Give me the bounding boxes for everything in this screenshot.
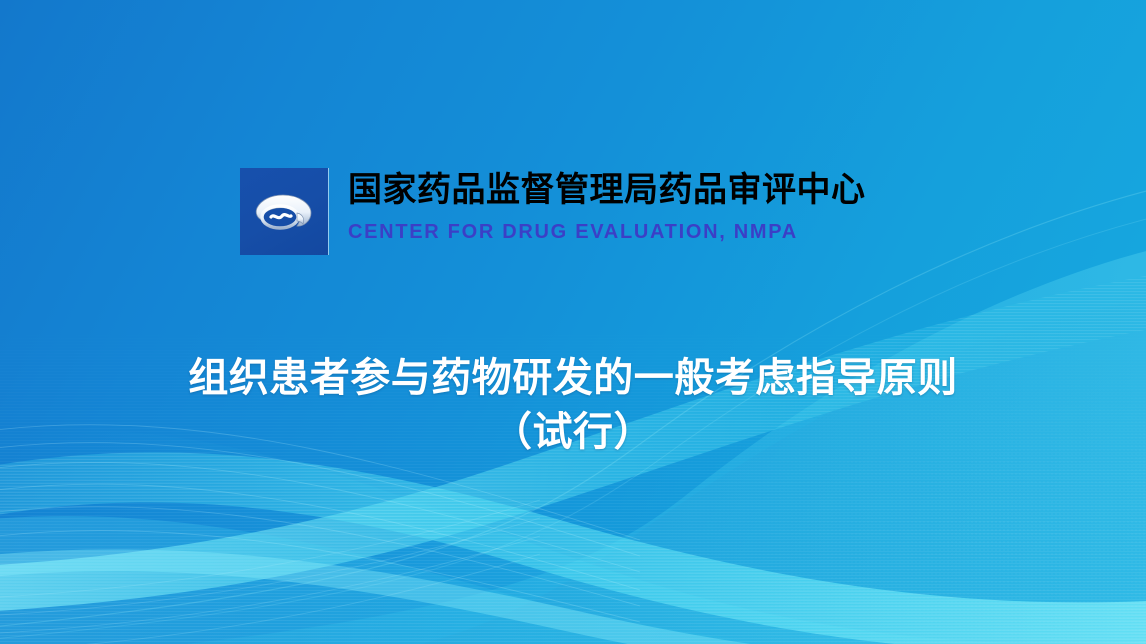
document-title-line-2: （试行） [40, 406, 1106, 460]
organization-name-cn: 国家药品监督管理局药品审评中心 [348, 170, 866, 210]
background-wave-graphics [0, 0, 1146, 644]
title-slide: 国家药品监督管理局药品审评中心 CENTER FOR DRUG EVALUATI… [0, 0, 1146, 644]
document-title-line-1: 组织患者参与药物研发的一般考虑指导原则 [40, 352, 1106, 406]
cde-eye-emblem-logo [240, 168, 328, 255]
organization-text-block: 国家药品监督管理局药品审评中心 CENTER FOR DRUG EVALUATI… [348, 168, 866, 243]
document-title: 组织患者参与药物研发的一般考虑指导原则 （试行） [0, 352, 1146, 459]
organization-name-en: CENTER FOR DRUG EVALUATION, NMPA [348, 221, 866, 243]
organization-header: 国家药品监督管理局药品审评中心 CENTER FOR DRUG EVALUATI… [240, 168, 866, 255]
